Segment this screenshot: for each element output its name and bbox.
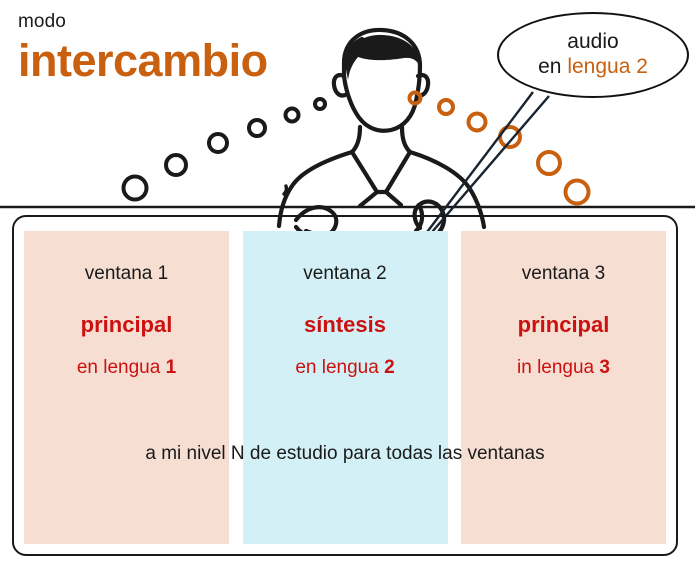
bubble-line-audio: audio xyxy=(567,30,618,55)
orange-bubble-icon xyxy=(538,152,560,174)
black-bubble-icon xyxy=(249,120,265,136)
footer-note: a mi nivel N de estudio para todas las v… xyxy=(12,443,678,465)
speech-bubble: audio en lengua 2 xyxy=(497,12,689,98)
orange-bubbles-group xyxy=(410,93,589,204)
main-card-frame xyxy=(12,215,678,556)
bubble-line-language-accent: lengua 2 xyxy=(567,55,648,78)
black-bubble-icon xyxy=(315,99,325,109)
bubble-line-language: en lengua 2 xyxy=(538,55,648,80)
bubble-line-language-prefix: en xyxy=(538,55,567,78)
page-title: intercambio xyxy=(18,37,338,84)
black-bubble-icon xyxy=(209,134,227,152)
black-bubbles-group xyxy=(124,99,326,200)
orange-bubble-icon xyxy=(439,100,453,114)
orange-bubble-icon xyxy=(469,114,486,131)
mode-label: modo xyxy=(18,12,338,33)
header-block: modo intercambio xyxy=(18,12,338,84)
orange-bubble-icon xyxy=(410,93,421,104)
orange-bubble-icon xyxy=(566,181,589,204)
black-bubble-icon xyxy=(124,177,147,200)
orange-bubble-icon xyxy=(500,127,520,147)
black-bubble-icon xyxy=(166,155,186,175)
black-bubble-icon xyxy=(286,109,299,122)
